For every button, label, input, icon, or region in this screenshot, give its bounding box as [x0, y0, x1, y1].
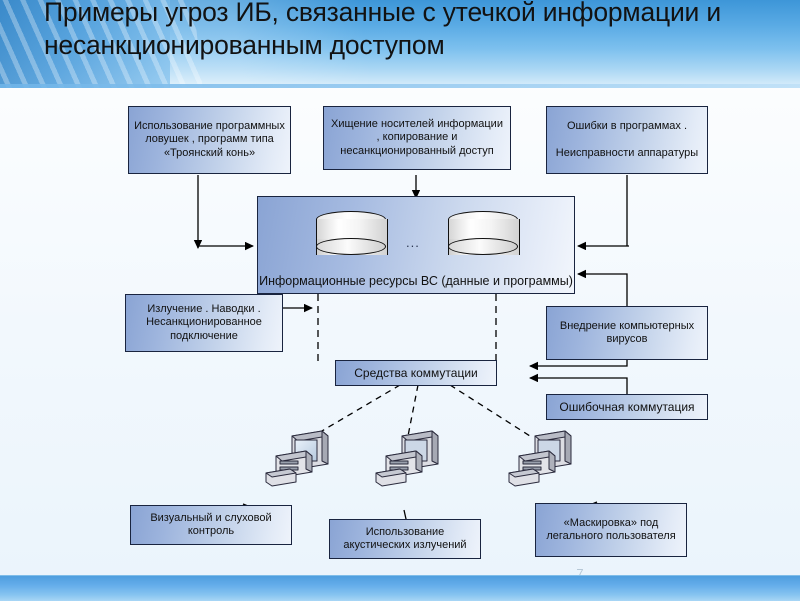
node-wrong-switching[interactable]: Ошибочная коммутация	[546, 394, 708, 420]
node-acoustic-emissions[interactable]: Использование акустических излучений	[329, 519, 481, 559]
database-cylinder-icon	[316, 211, 386, 263]
node-program-errors-line1: Ошибки в программах .	[551, 120, 703, 134]
database-cylinder-icon	[448, 211, 518, 263]
node-program-errors[interactable]: Ошибки в программах . Неисправности аппа…	[546, 106, 708, 174]
arrow-wrongswitch-switching	[530, 378, 627, 394]
computer-workstation-icon	[505, 428, 581, 492]
node-wrong-switching-label: Ошибочная коммутация	[551, 400, 703, 415]
node-trojan-traps[interactable]: Использование программных ловушек , прог…	[128, 106, 291, 174]
computer-workstation-icon	[372, 428, 448, 492]
diagram-canvas: Использование программных ловушек , прог…	[0, 88, 800, 575]
arrow-viruses-resources	[578, 274, 627, 306]
node-masquerade-user[interactable]: «Маскировка» под легального пользователя	[535, 503, 687, 557]
node-information-resources-label: Информационные ресурсы ВС (данные и прог…	[258, 274, 574, 289]
node-switching-facilities[interactable]: Средства коммутации	[335, 360, 497, 386]
node-acoustic-emissions-label: Использование акустических излучений	[334, 526, 476, 553]
slide-root: Примеры угроз ИБ, связанные с утечкой ин…	[0, 0, 800, 600]
node-information-resources[interactable]: ... Информационные ресурсы ВС (данные и …	[257, 196, 575, 294]
node-visual-audio-control[interactable]: Визуальный и слуховой контроль	[130, 505, 292, 545]
node-masquerade-user-label: «Маскировка» под легального пользователя	[540, 517, 682, 544]
node-radiation-pickup[interactable]: Излучение . Наводки . Несанкционированно…	[125, 294, 283, 352]
node-media-theft[interactable]: Хищение носителей информации , копирован…	[323, 106, 511, 170]
node-media-theft-label: Хищение носителей информации , копирован…	[328, 118, 506, 159]
node-computer-viruses[interactable]: Внедрение компьютерных вирусов	[546, 306, 708, 360]
node-radiation-pickup-label: Излучение . Наводки . Несанкционированно…	[130, 303, 278, 344]
node-trojan-traps-label: Использование программных ловушек , прог…	[133, 120, 286, 161]
node-switching-facilities-label: Средства коммутации	[340, 366, 492, 381]
computer-workstation-icon	[262, 428, 338, 492]
slide-footer-banner	[0, 575, 800, 601]
node-computer-viruses-label: Внедрение компьютерных вирусов	[551, 320, 703, 347]
resources-ellipsis: ...	[406, 235, 420, 250]
page-title: Примеры угроз ИБ, связанные с утечкой ин…	[44, 0, 764, 62]
node-visual-audio-control-label: Визуальный и слуховой контроль	[135, 512, 287, 539]
node-program-errors-line2: Неисправности аппаратуры	[551, 147, 703, 161]
